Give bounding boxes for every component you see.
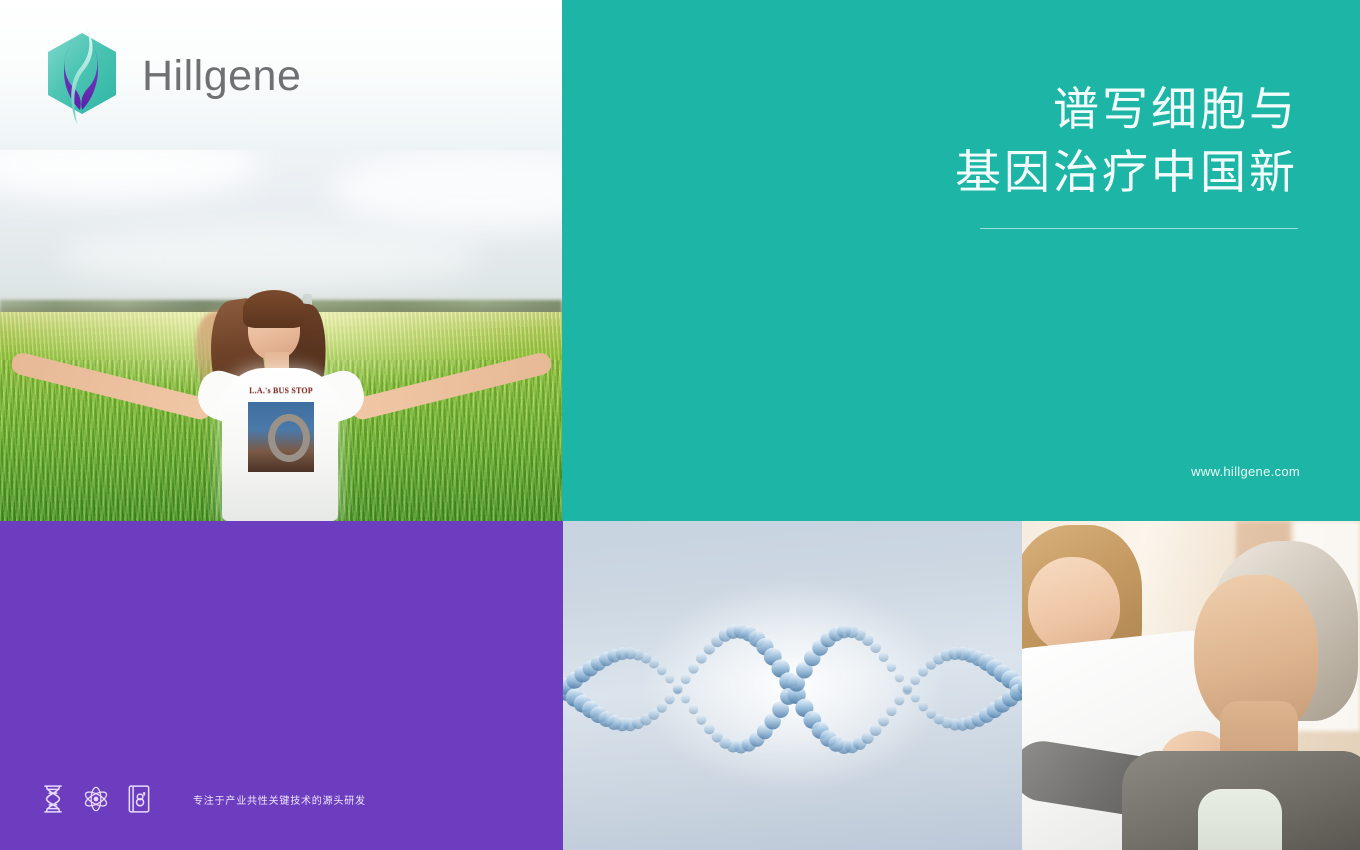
dna-strand-graphic (563, 521, 1022, 850)
nurse-and-elderly-woman-photo (1022, 521, 1360, 850)
dna-helix-photo (563, 521, 1022, 850)
website-url[interactable]: www.hillgene.com (1191, 464, 1300, 479)
woman-figure: L.A.'s BUS STOP (0, 260, 562, 521)
hillgene-hexagon-logo (44, 28, 120, 124)
hero-headline: 谱写细胞与 基因治疗中国新 (955, 78, 1298, 203)
left-arm (9, 351, 213, 422)
brochure-page: L.A.'s BUS STOP (0, 0, 1360, 850)
purple-panel-tagline: 专注于产业共性关键技术的源头研发 (193, 792, 366, 807)
purple-tagline-panel: 专注于产业共性关键技术的源头研发 (0, 521, 563, 850)
brand-wordmark: Hillgene (142, 55, 301, 98)
elderly-shirt (1198, 789, 1282, 850)
hair-top (243, 290, 305, 328)
tshirt-graphic-print (248, 402, 314, 472)
feature-icon-row (40, 784, 152, 814)
hero-headline-line2: 基因治疗中国新 (955, 141, 1298, 204)
hero-divider-rule (980, 228, 1298, 229)
hexagon-leaf-icon (44, 28, 120, 124)
hero-headline-line1: 谱写细胞与 (955, 78, 1298, 141)
atom-icon (83, 784, 109, 814)
hero-teal-panel: 谱写细胞与 基因治疗中国新 www.hillgene.com (562, 0, 1360, 521)
tshirt-graphic-ring (268, 414, 310, 462)
dna-helix-icon (40, 784, 66, 814)
tshirt-graphic-text: L.A.'s BUS STOP (248, 386, 314, 395)
brand-logo[interactable]: Hillgene (44, 28, 301, 124)
right-arm (349, 351, 553, 422)
book-icon (126, 784, 152, 814)
purple-footer-row: 专注于产业共性关键技术的源头研发 (40, 784, 366, 814)
